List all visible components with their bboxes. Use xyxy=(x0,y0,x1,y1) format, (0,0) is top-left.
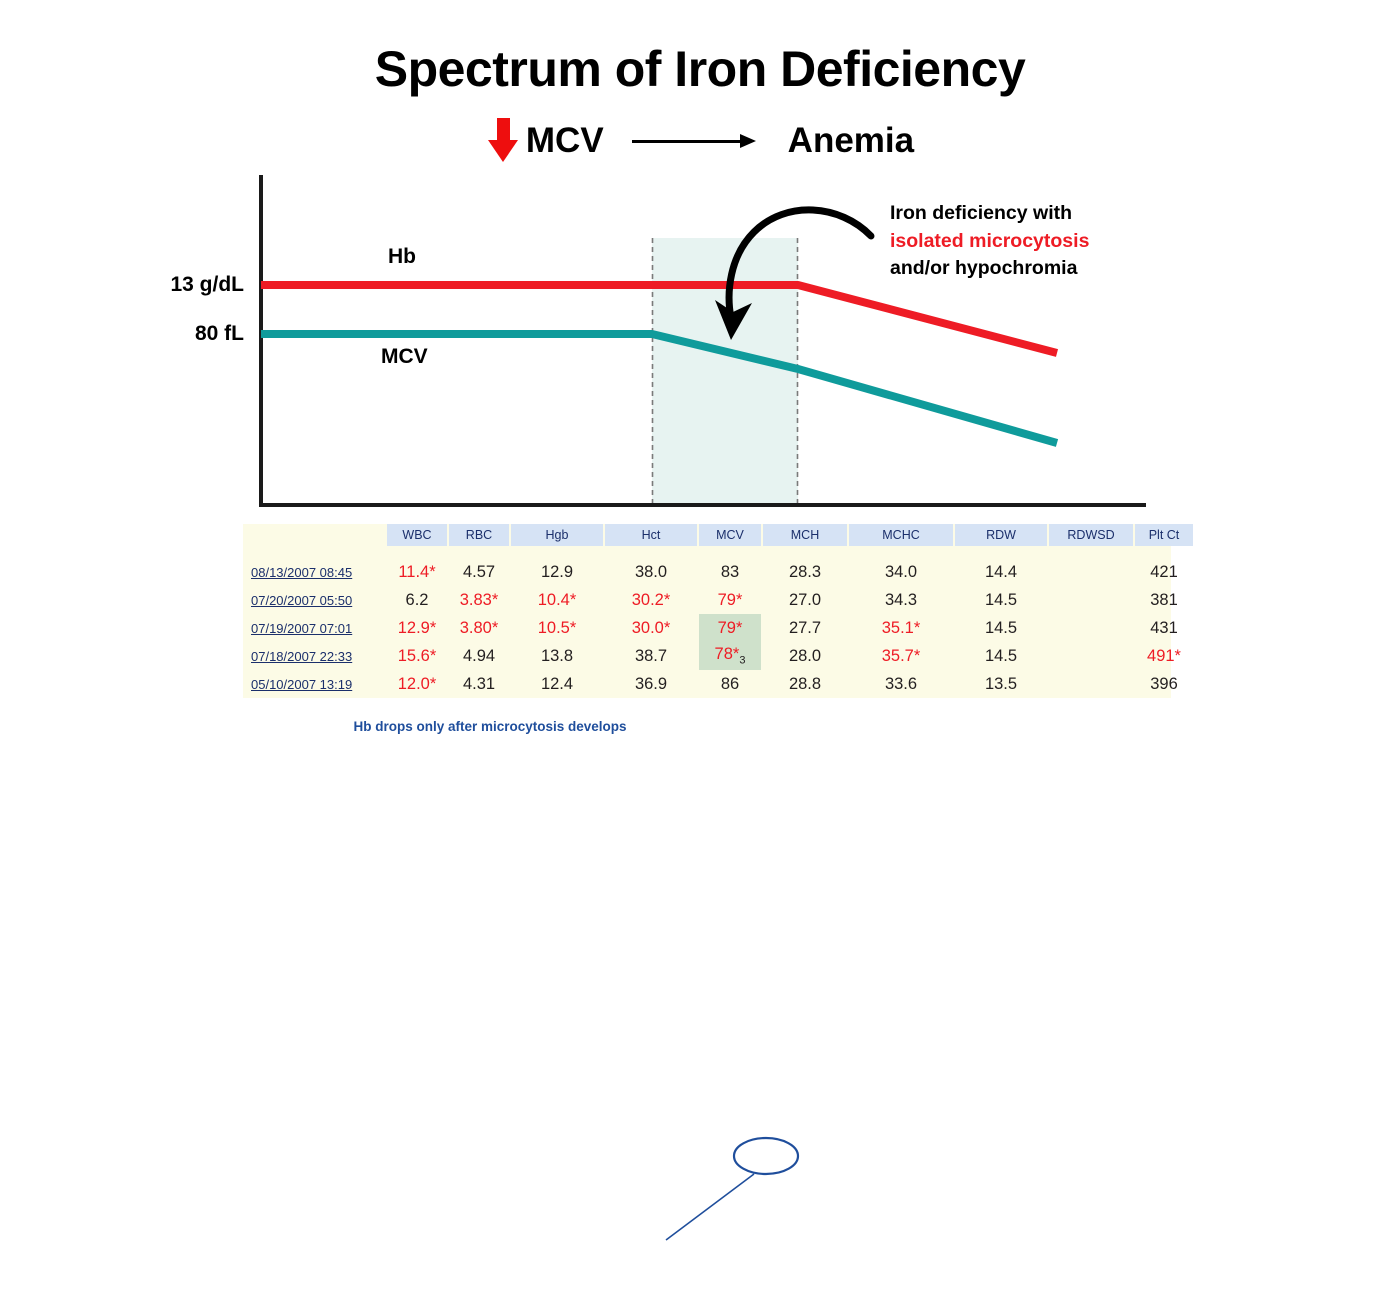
mcv-threshold-label: 80 fL xyxy=(124,322,244,346)
microcytosis-window-band xyxy=(652,238,798,506)
cell-mch: 28.8 xyxy=(763,670,847,698)
cell-hct: 38.0 xyxy=(605,558,697,586)
cell-mch: 27.0 xyxy=(763,586,847,614)
table-row: 07/19/2007 07:0112.9*3.80*10.5*30.0*79*2… xyxy=(245,614,1193,642)
cell-rbc: 4.57 xyxy=(449,558,509,586)
cell-mch: 28.0 xyxy=(763,642,847,670)
cell-mchc: 33.6 xyxy=(849,670,953,698)
result-date-link[interactable]: 07/19/2007 07:01 xyxy=(245,614,385,642)
cell-rdwsd xyxy=(1049,670,1133,698)
header-spacer-row xyxy=(245,546,1193,558)
header-rbc[interactable]: RBC xyxy=(449,524,509,546)
callout-line-2-highlight: isolated microcytosis xyxy=(890,228,1190,256)
cell-mcv: 78*3 xyxy=(699,642,761,670)
iron-deficiency-callout: Iron deficiency with isolated microcytos… xyxy=(890,200,1190,283)
cell-hgb: 12.4 xyxy=(511,670,603,698)
cell-mcv: 83 xyxy=(699,558,761,586)
cell-rdwsd xyxy=(1049,586,1133,614)
header-mcv[interactable]: MCV xyxy=(699,524,761,546)
cell-mcv: 86 xyxy=(699,670,761,698)
cell-rdwsd xyxy=(1049,642,1133,670)
cell-rdw: 14.5 xyxy=(955,614,1047,642)
circled-hgb-value-ellipse xyxy=(734,1138,798,1174)
cell-mcv: 79* xyxy=(699,614,761,642)
header-hgb[interactable]: Hgb xyxy=(511,524,603,546)
header-rdwsd[interactable]: RDWSD xyxy=(1049,524,1133,546)
table-header-row: WBC RBC Hgb Hct MCV MCH MCHC RDW RDWSD P… xyxy=(245,524,1193,546)
cell-rbc: 3.80* xyxy=(449,614,509,642)
lab-results-table: WBC RBC Hgb Hct MCV MCH MCHC RDW RDWSD P… xyxy=(243,524,1171,698)
result-date-link[interactable]: 07/18/2007 22:33 xyxy=(245,642,385,670)
spectrum-chart: 13 g/dL 80 fL Hb MCV Iron deficiency wit… xyxy=(0,0,1400,540)
callout-line-3: and/or hypochromia xyxy=(890,255,1190,283)
cell-wbc: 15.6* xyxy=(387,642,447,670)
cell-hct: 38.7 xyxy=(605,642,697,670)
hb-series-label: Hb xyxy=(388,245,416,269)
hb-drop-note: Hb drops only after microcytosis develop… xyxy=(330,718,650,736)
cell-mchc: 34.3 xyxy=(849,586,953,614)
cell-rdw: 14.5 xyxy=(955,642,1047,670)
cell-mch: 27.7 xyxy=(763,614,847,642)
cell-rbc: 3.83* xyxy=(449,586,509,614)
hgb-circle-annotation xyxy=(486,1048,1400,1308)
cell-wbc: 12.0* xyxy=(387,670,447,698)
cell-rdw: 14.5 xyxy=(955,586,1047,614)
result-date-link[interactable]: 05/10/2007 13:19 xyxy=(245,670,385,698)
header-mch[interactable]: MCH xyxy=(763,524,847,546)
header-pltct[interactable]: Plt Ct xyxy=(1135,524,1193,546)
cell-wbc: 6.2 xyxy=(387,586,447,614)
annotation-leader-line xyxy=(666,1174,754,1240)
callout-line-1: Iron deficiency with xyxy=(890,200,1190,228)
result-date-link[interactable]: 08/13/2007 08:45 xyxy=(245,558,385,586)
cell-rdw: 13.5 xyxy=(955,670,1047,698)
header-date xyxy=(245,524,385,546)
header-rdw[interactable]: RDW xyxy=(955,524,1047,546)
header-wbc[interactable]: WBC xyxy=(387,524,447,546)
cell-rdw: 14.4 xyxy=(955,558,1047,586)
cell-hct: 36.9 xyxy=(605,670,697,698)
header-hct[interactable]: Hct xyxy=(605,524,697,546)
cell-rdwsd xyxy=(1049,614,1133,642)
cell-wbc: 12.9* xyxy=(387,614,447,642)
table-row: 08/13/2007 08:4511.4*4.5712.938.08328.33… xyxy=(245,558,1193,586)
cell-plt-ct: 421 xyxy=(1135,558,1193,586)
cell-wbc: 11.4* xyxy=(387,558,447,586)
chart-svg xyxy=(0,0,1400,540)
cell-hgb: 10.5* xyxy=(511,614,603,642)
table-row: 07/20/2007 05:506.23.83*10.4*30.2*79*27.… xyxy=(245,586,1193,614)
cell-plt-ct: 431 xyxy=(1135,614,1193,642)
result-date-link[interactable]: 07/20/2007 05:50 xyxy=(245,586,385,614)
cell-mchc: 35.7* xyxy=(849,642,953,670)
cell-hgb: 10.4* xyxy=(511,586,603,614)
cell-plt-ct: 381 xyxy=(1135,586,1193,614)
cell-mchc: 35.1* xyxy=(849,614,953,642)
cell-hct: 30.0* xyxy=(605,614,697,642)
table-row: 07/18/2007 22:3315.6*4.9413.838.778*328.… xyxy=(245,642,1193,670)
cell-hgb: 13.8 xyxy=(511,642,603,670)
mcv-series-label: MCV xyxy=(381,345,428,369)
table-body: 08/13/2007 08:4511.4*4.5712.938.08328.33… xyxy=(245,558,1193,698)
table-row: 05/10/2007 13:1912.0*4.3112.436.98628.83… xyxy=(245,670,1193,698)
cell-rbc: 4.31 xyxy=(449,670,509,698)
cell-mchc: 34.0 xyxy=(849,558,953,586)
cell-hct: 30.2* xyxy=(605,586,697,614)
cell-plt-ct: 396 xyxy=(1135,670,1193,698)
cell-rdwsd xyxy=(1049,558,1133,586)
cell-plt-ct: 491* xyxy=(1135,642,1193,670)
cell-rbc: 4.94 xyxy=(449,642,509,670)
cell-mch: 28.3 xyxy=(763,558,847,586)
cell-mcv: 79* xyxy=(699,586,761,614)
hb-threshold-label: 13 g/dL xyxy=(124,273,244,297)
header-mchc[interactable]: MCHC xyxy=(849,524,953,546)
cell-hgb: 12.9 xyxy=(511,558,603,586)
